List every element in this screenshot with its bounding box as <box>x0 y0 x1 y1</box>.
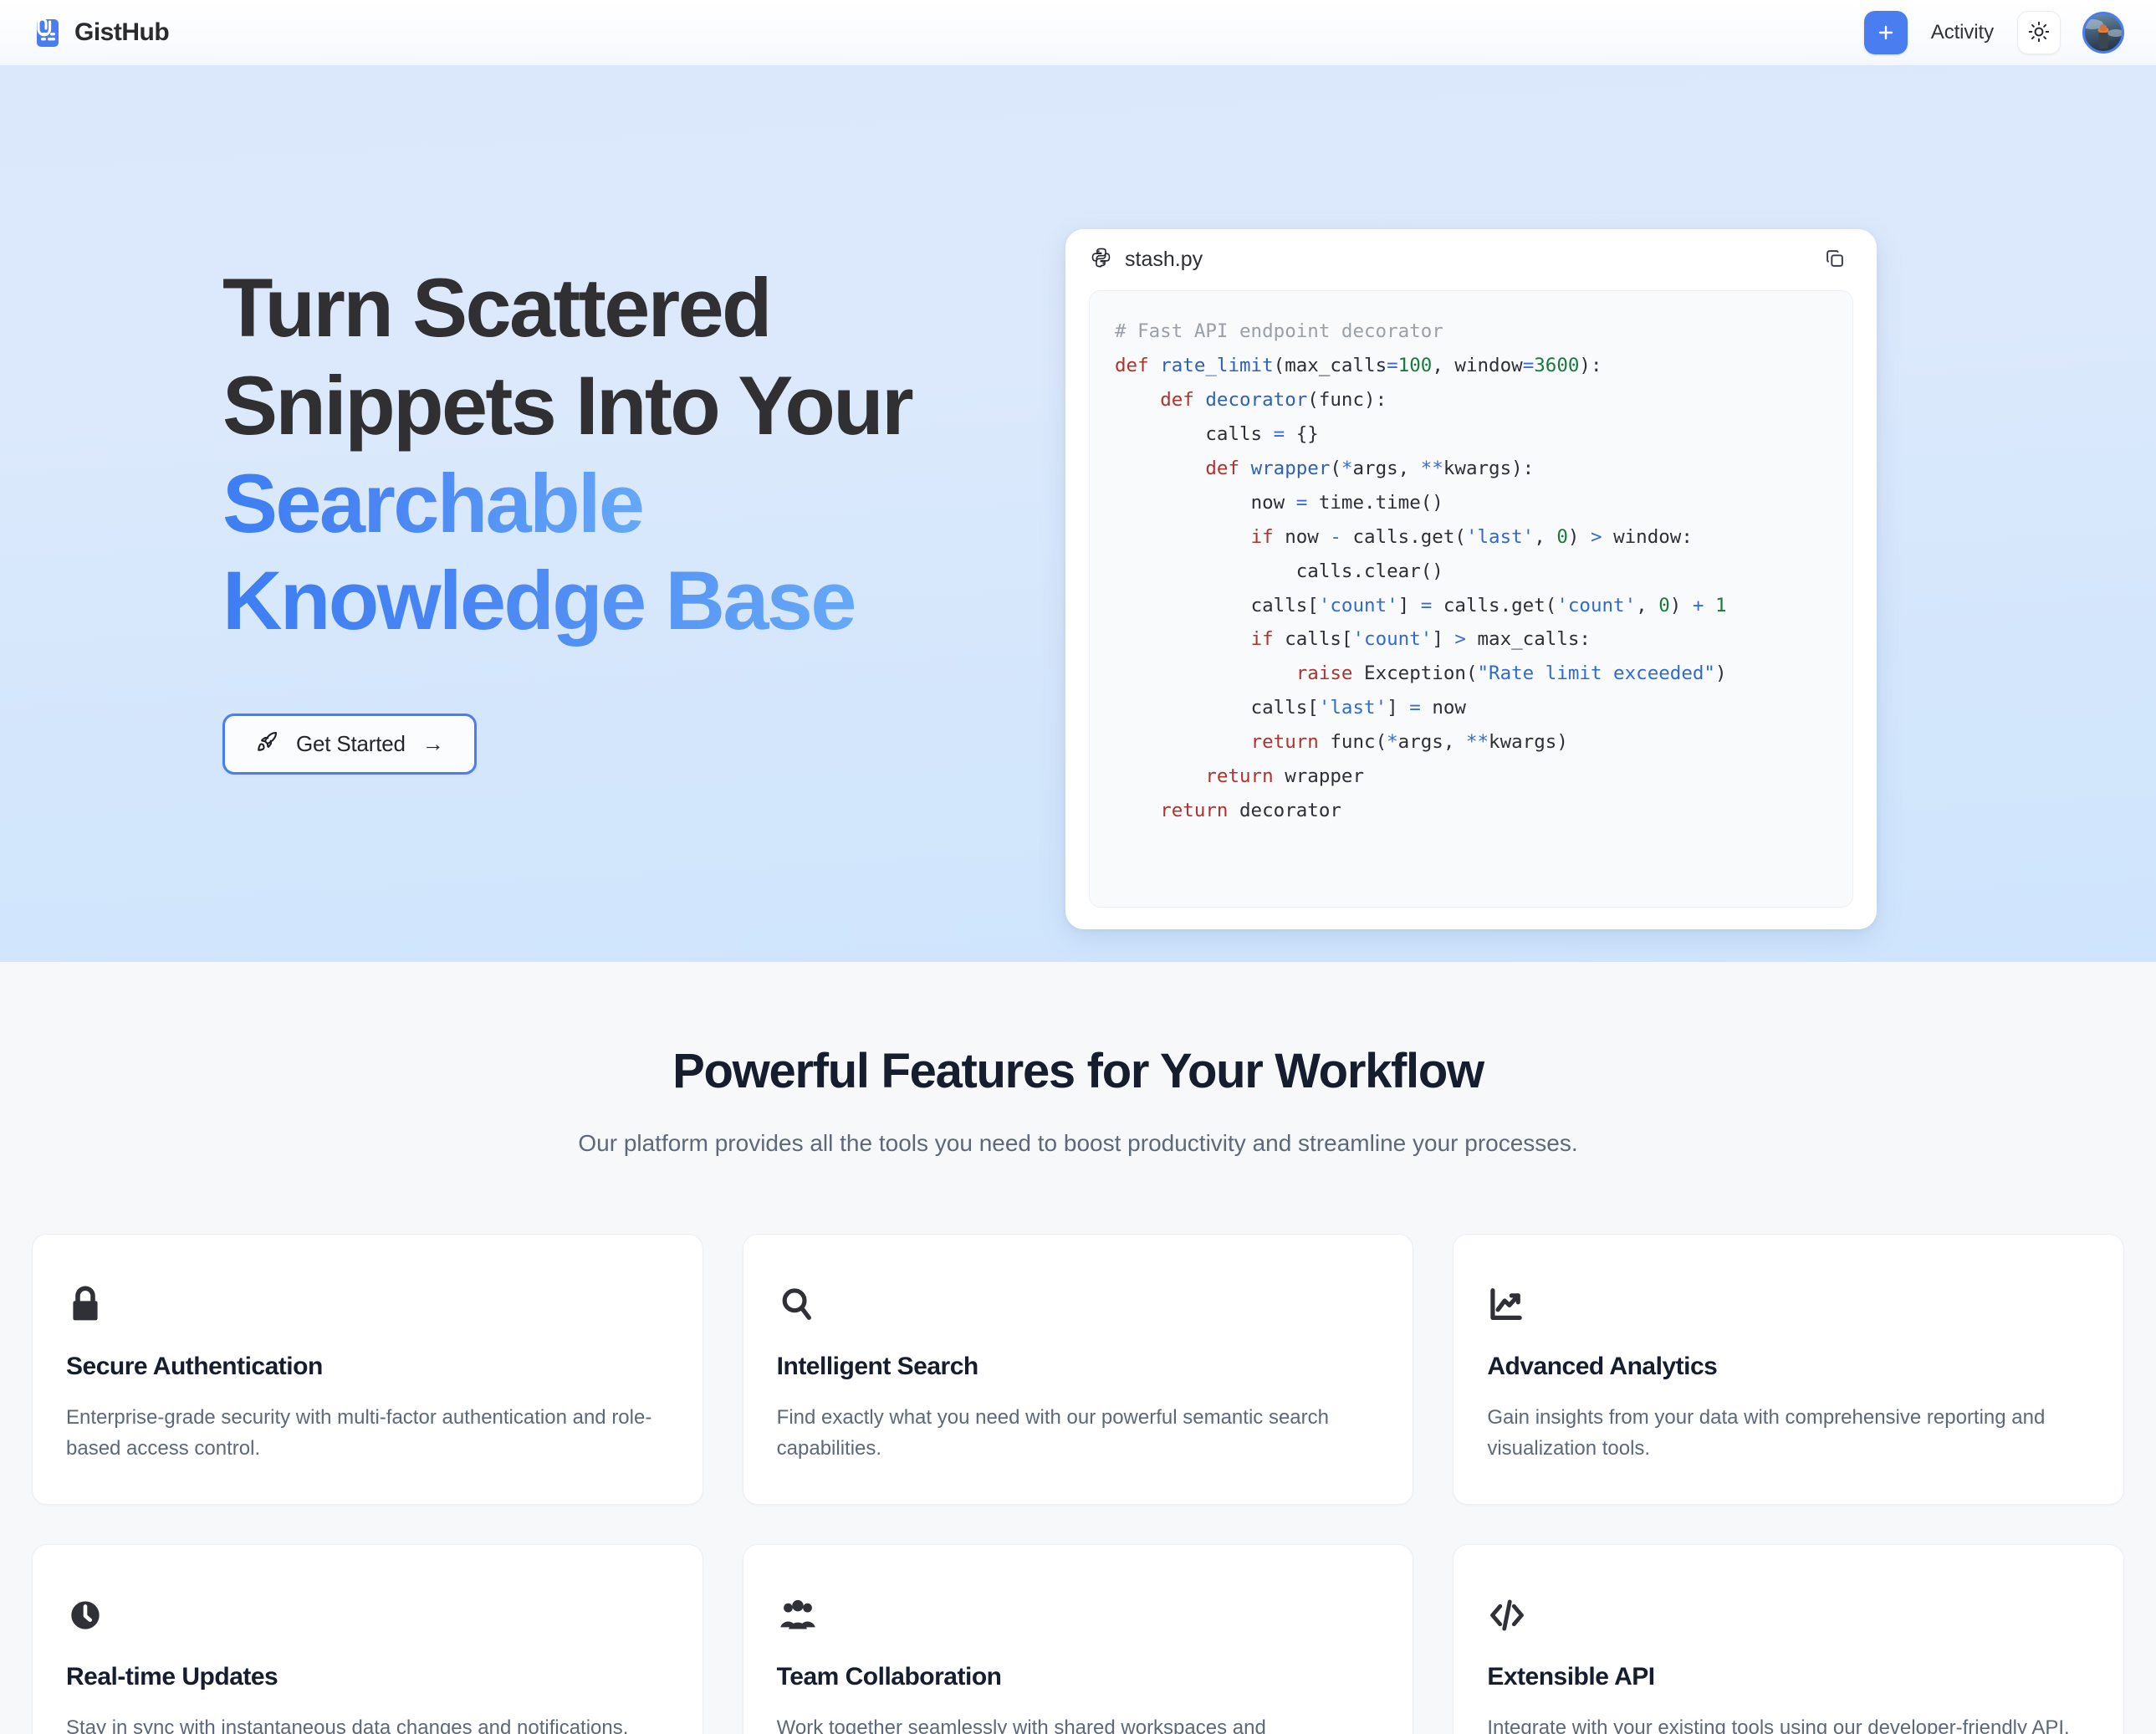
code-block: # Fast API endpoint decorator def rate_l… <box>1089 290 1853 908</box>
search-icon <box>777 1281 1380 1329</box>
new-gist-button[interactable] <box>1864 11 1908 54</box>
user-avatar[interactable] <box>2082 12 2124 54</box>
hero-title: Turn Scattered Snippets Into Your Search… <box>222 259 1002 650</box>
feature-card-intelligent-search[interactable]: Intelligent Search Find exactly what you… <box>743 1234 1414 1506</box>
feature-card-title: Secure Authentication <box>66 1353 669 1381</box>
feature-card-real-time-updates[interactable]: Real-time Updates Stay in sync with inst… <box>32 1544 703 1734</box>
hero-code-preview: stash.py # Fast API endpoint decorator d… <box>1002 65 1877 929</box>
hero-title-line-1: Turn Scattered <box>222 261 770 354</box>
theme-toggle-button[interactable] <box>2017 11 2061 54</box>
avatar-cloud <box>2107 29 2124 37</box>
clock-icon <box>66 1591 669 1639</box>
plus-icon <box>1876 23 1896 43</box>
sun-icon <box>2028 21 2050 45</box>
feature-card-description: Find exactly what you need with our powe… <box>777 1402 1380 1465</box>
code-card-header: stash.py <box>1065 229 1877 290</box>
feature-card-title: Advanced Analytics <box>1487 1353 2090 1381</box>
gist-document-icon <box>32 16 62 49</box>
feature-card-title: Team Collaboration <box>777 1663 1380 1691</box>
hero-section: Turn Scattered Snippets Into Your Search… <box>0 65 2156 962</box>
feature-card-description: Integrate with your existing tools using… <box>1487 1712 2090 1734</box>
chart-line-up-icon <box>1487 1281 2090 1329</box>
hero-title-line-4: Knowledge Base <box>222 554 855 647</box>
feature-card-description: Enterprise-grade security with multi-fac… <box>66 1402 669 1465</box>
copy-code-button[interactable] <box>1818 243 1852 277</box>
brand-name: GistHub <box>74 18 169 47</box>
feature-card-title: Real-time Updates <box>66 1663 669 1691</box>
users-group-icon <box>777 1591 1380 1639</box>
get-started-label: Get Started <box>296 731 406 757</box>
feature-card-description: Gain insights from your data with compre… <box>1487 1402 2090 1465</box>
hero-title-line-2: Snippets Into Your <box>222 359 912 452</box>
features-section: Powerful Features for Your Workflow Our … <box>0 962 2156 1734</box>
feature-card-title: Extensible API <box>1487 1663 2090 1691</box>
features-title: Powerful Features for Your Workflow <box>32 1043 2124 1099</box>
header-actions: Activity <box>1864 11 2124 54</box>
code-content: # Fast API endpoint decorator def rate_l… <box>1115 315 1827 828</box>
arrow-right-icon: → <box>422 731 444 757</box>
code-file: stash.py <box>1091 247 1203 274</box>
hero-content: Turn Scattered Snippets Into Your Search… <box>32 65 1002 775</box>
get-started-button[interactable]: Get Started → <box>222 714 477 775</box>
feature-card-secure-authentication[interactable]: Secure Authentication Enterprise-grade s… <box>32 1234 703 1506</box>
python-icon <box>1091 247 1111 274</box>
app-header: GistHub Activity <box>0 0 2156 65</box>
feature-card-extensible-api[interactable]: Extensible API Integrate with your exist… <box>1453 1544 2124 1734</box>
code-card: stash.py # Fast API endpoint decorator d… <box>1065 229 1877 929</box>
feature-card-title: Intelligent Search <box>777 1353 1380 1381</box>
lock-icon <box>66 1281 669 1329</box>
copy-icon <box>1824 248 1846 272</box>
hero-title-line-3: Searchable <box>222 457 642 550</box>
rocket-icon <box>255 729 279 760</box>
feature-card-team-collaboration[interactable]: Team Collaboration Work together seamles… <box>743 1544 1414 1734</box>
feature-cards-grid: Secure Authentication Enterprise-grade s… <box>32 1234 2124 1734</box>
features-subtitle: Our platform provides all the tools you … <box>568 1126 1588 1162</box>
brand[interactable]: GistHub <box>32 16 169 49</box>
code-filename: stash.py <box>1125 248 1203 272</box>
feature-card-advanced-analytics[interactable]: Advanced Analytics Gain insights from yo… <box>1453 1234 2124 1506</box>
feature-card-description: Work together seamlessly with shared wor… <box>777 1712 1380 1734</box>
code-brackets-icon <box>1487 1591 2090 1639</box>
feature-card-description: Stay in sync with instantaneous data cha… <box>66 1712 669 1734</box>
avatar-person-head <box>2100 24 2107 31</box>
nav-link-activity[interactable]: Activity <box>1929 18 1995 48</box>
